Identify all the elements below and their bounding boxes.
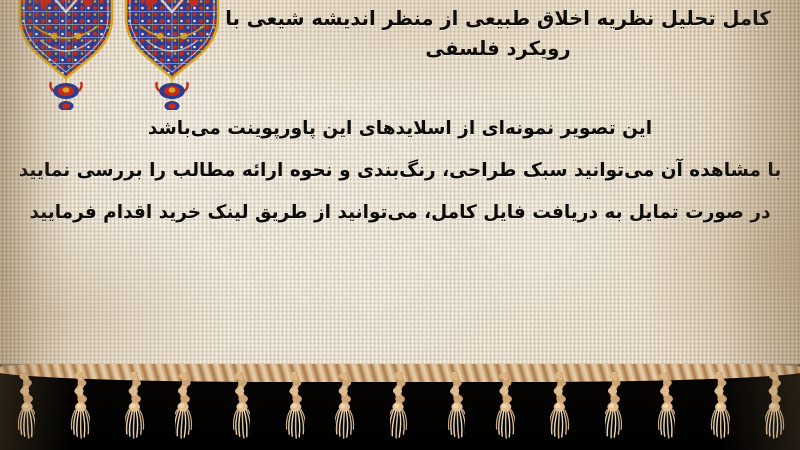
carpet-fringe-border (0, 364, 800, 450)
fringe-tassel (15, 372, 35, 442)
slide-title-line-1: کامل تحلیل نظریه اخلاق طبیعی از منظر اند… (208, 4, 788, 34)
fringe-tassel (765, 372, 785, 442)
fringe-tassel (445, 372, 465, 442)
slide-body-line-1: این تصویر نمونه‌ای از اسلایدهای این پاور… (14, 108, 786, 150)
fringe-tassel (125, 372, 145, 442)
fringe-tassel (550, 372, 570, 442)
fringe-tassel (70, 372, 90, 442)
slide-title-line-2: رویکرد فلسفی (208, 34, 788, 64)
fringe-tassel (710, 372, 730, 442)
fringe-tassel (175, 372, 195, 442)
slide-title: کامل تحلیل نظریه اخلاق طبیعی از منظر اند… (208, 4, 788, 64)
fringe-tassel (285, 372, 305, 442)
fringe-tassel (655, 372, 675, 442)
fringe-tassel (230, 372, 250, 442)
fringe-tassel (495, 372, 515, 442)
fringe-tassel (605, 372, 625, 442)
slide-body-line-2: با مشاهده آن می‌توانید سبک طراحی، رنگ‌بن… (14, 150, 786, 192)
fringe-tassel (390, 372, 410, 442)
presentation-slide: کامل تحلیل نظریه اخلاق طبیعی از منظر اند… (0, 0, 800, 450)
slide-body: این تصویر نمونه‌ای از اسلایدهای این پاور… (14, 108, 786, 234)
slide-body-line-3: در صورت تمایل به دریافت فایل کامل، می‌تو… (14, 192, 786, 234)
persian-illumination-medallion-left-icon (14, 0, 118, 110)
fringe-tassel (335, 372, 355, 442)
